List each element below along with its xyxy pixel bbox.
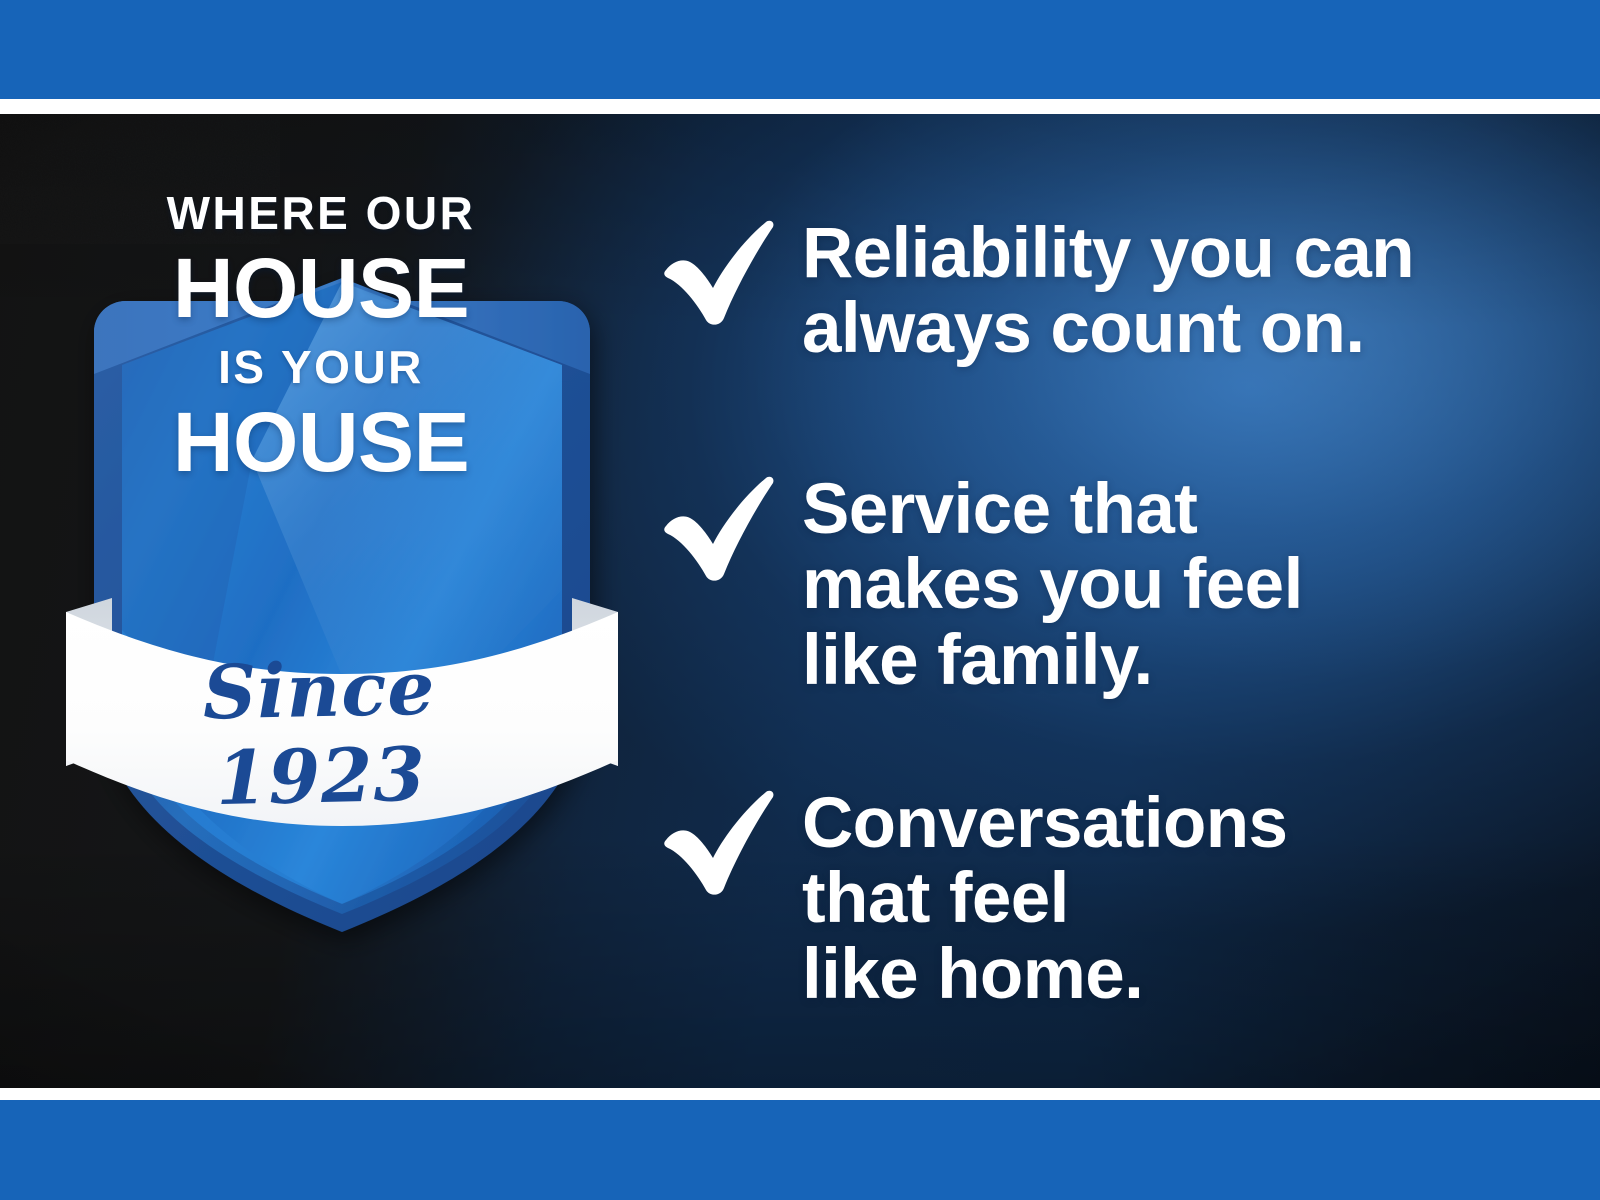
- checkmark-icon: [660, 782, 802, 900]
- benefit-text-1: Reliability you can always count on.: [802, 212, 1540, 367]
- checkmark-icon: [660, 212, 802, 330]
- benefit-text-2: Service that makes you feel like family.: [802, 468, 1540, 698]
- benefit-1-line-1: Reliability you can: [802, 216, 1540, 291]
- bottom-brand-bar: [0, 1100, 1600, 1200]
- benefit-2-line-1: Service that: [802, 472, 1540, 547]
- benefit-text-3: Conversations that feel like home.: [802, 782, 1540, 1012]
- benefit-2-line-2: makes you feel: [802, 547, 1540, 622]
- checkmark-icon: [660, 468, 802, 586]
- benefit-item-2: Service that makes you feel like family.: [660, 468, 1540, 698]
- shield-since-text: Since 1923: [108, 644, 532, 825]
- shield-line-3: IS YOUR: [96, 344, 546, 390]
- promotional-poster: WHERE OUR HOUSE IS YOUR HOUSE Since 1923…: [0, 0, 1600, 1200]
- benefit-3-line-1: Conversations: [802, 786, 1540, 861]
- benefit-3-line-3: like home.: [802, 937, 1540, 1012]
- benefit-item-1: Reliability you can always count on.: [660, 212, 1540, 367]
- benefit-2-line-3: like family.: [802, 623, 1540, 698]
- top-brand-bar: [0, 0, 1600, 99]
- shield-wordmark: WHERE OUR HOUSE IS YOUR HOUSE: [96, 190, 546, 484]
- benefits-list: Reliability you can always count on. Ser…: [660, 150, 1540, 1050]
- shield-line-2: HOUSE: [96, 246, 546, 330]
- shield-line-4: HOUSE: [96, 400, 546, 484]
- benefit-1-line-2: always count on.: [802, 291, 1540, 366]
- benefit-item-3: Conversations that feel like home.: [660, 782, 1540, 1012]
- shield-line-1: WHERE OUR: [96, 190, 546, 236]
- benefit-3-line-2: that feel: [802, 861, 1540, 936]
